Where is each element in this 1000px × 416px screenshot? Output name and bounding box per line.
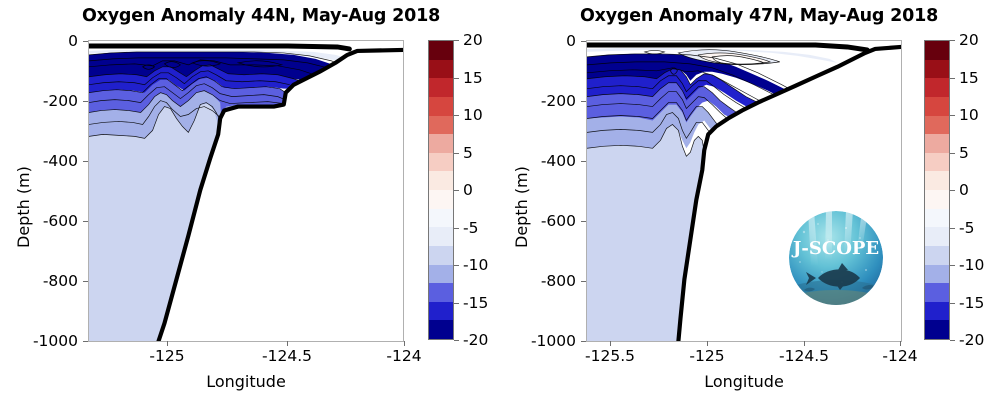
xtick-mark-47n-2 <box>804 341 805 346</box>
colorbar-band-8 <box>429 190 453 209</box>
yaxis-title-44n: Depth (m) <box>14 166 33 248</box>
colorbar-band-15 <box>429 320 453 339</box>
colorbar-band-3 <box>925 97 949 116</box>
ytick-label-44n-5: -1000 <box>18 332 78 350</box>
colorbar-tick-mark-7 <box>454 303 459 304</box>
xtick-label-47n-3: -124 <box>882 347 917 365</box>
colorbar-band-10 <box>925 227 949 246</box>
colorbar-band-4 <box>925 116 949 135</box>
colorbar-gradient-44n <box>429 41 453 339</box>
colorbar-band-11 <box>429 246 453 265</box>
colorbar-band-7 <box>429 171 453 190</box>
colorbar-band-13 <box>429 283 453 302</box>
colorbar-tick-mark-7 <box>950 303 955 304</box>
colorbar-band-8 <box>925 190 949 209</box>
xtick-label-44n-2: -124 <box>386 347 421 365</box>
colorbar-tick-label-3: 5 <box>959 144 969 162</box>
ytick-mark-44n-4 <box>83 281 88 282</box>
ytick-mark-47n-1 <box>581 101 586 102</box>
xtick-label-44n-0: -125 <box>149 347 184 365</box>
colorbar-tick-mark-6 <box>454 265 459 266</box>
colorbar-band-0 <box>925 41 949 60</box>
colorbar-band-12 <box>429 265 453 284</box>
jscope-logo-graphic: J-SCOPE <box>788 210 884 306</box>
colorbar-tick-mark-3 <box>454 153 459 154</box>
colorbar-tick-mark-5 <box>950 228 955 229</box>
colorbar-tick-label-4: 0 <box>463 181 473 199</box>
ytick-label-44n-0: 0 <box>18 32 78 50</box>
colorbar-band-5 <box>925 134 949 153</box>
panel-title-44n: Oxygen Anomaly 44N, May-Aug 2018 <box>0 6 500 26</box>
colorbar-tick-mark-8 <box>454 340 459 341</box>
xtick-label-47n-1: -125 <box>689 347 724 365</box>
jscope-logo-text: J-SCOPE <box>791 238 879 259</box>
colorbar-band-11 <box>925 246 949 265</box>
colorbar-band-2 <box>429 78 453 97</box>
colorbar-tick-mark-2 <box>454 115 459 116</box>
colorbar-band-5 <box>429 134 453 153</box>
colorbar-tick-mark-5 <box>454 228 459 229</box>
colorbar-band-15 <box>925 320 949 339</box>
ytick-mark-47n-5 <box>581 341 586 342</box>
ytick-label-44n-1: -200 <box>18 92 78 110</box>
colorbar-tick-label-6: -10 <box>959 256 984 274</box>
colorbar-ticks-44n: 20151050-5-10-15-20 <box>454 40 500 340</box>
colorbar-band-3 <box>429 97 453 116</box>
colorbar-tick-label-2: 10 <box>959 106 979 124</box>
jscope-logo: J-SCOPE <box>788 210 884 306</box>
colorbar-ticks-47n: 20151050-5-10-15-20 <box>950 40 996 340</box>
colorbar-band-1 <box>925 60 949 79</box>
yaxis-title-47n: Depth (m) <box>512 166 531 248</box>
ytick-mark-47n-0 <box>581 41 586 42</box>
colorbar-band-9 <box>429 209 453 228</box>
colorbar-band-1 <box>429 60 453 79</box>
colorbar-tick-mark-0 <box>950 40 955 41</box>
colorbar-band-9 <box>925 209 949 228</box>
colorbar-gradient-47n <box>925 41 949 339</box>
colorbar-tick-mark-4 <box>454 190 459 191</box>
ytick-mark-47n-2 <box>581 161 586 162</box>
plot-area-44n <box>88 40 404 342</box>
xtick-mark-47n-3 <box>900 341 901 346</box>
xtick-mark-44n-1 <box>287 341 288 346</box>
colorbar-band-2 <box>925 78 949 97</box>
colorbar-tick-label-7: -15 <box>959 294 984 312</box>
xtick-label-47n-0: -125.5 <box>585 347 635 365</box>
colorbar-tick-label-0: 20 <box>463 31 483 49</box>
xtick-mark-44n-0 <box>167 341 168 346</box>
colorbar-band-6 <box>925 153 949 172</box>
ytick-label-47n-4: -800 <box>516 272 576 290</box>
colorbar-band-4 <box>429 116 453 135</box>
colorbar-band-14 <box>925 302 949 321</box>
colorbar-tick-mark-1 <box>950 78 955 79</box>
colorbar-tick-mark-2 <box>950 115 955 116</box>
colorbar-band-14 <box>429 302 453 321</box>
colorbar-band-7 <box>925 171 949 190</box>
ytick-mark-47n-3 <box>581 221 586 222</box>
ytick-mark-44n-0 <box>83 41 88 42</box>
xtick-mark-47n-0 <box>610 341 611 346</box>
ytick-mark-44n-5 <box>83 341 88 342</box>
ytick-mark-44n-3 <box>83 221 88 222</box>
ytick-label-44n-4: -800 <box>18 272 78 290</box>
colorbar-tick-label-3: 5 <box>463 144 473 162</box>
colorbar-tick-label-2: 10 <box>463 106 483 124</box>
colorbar-tick-label-5: -5 <box>463 219 478 237</box>
xaxis-title-44n: Longitude <box>206 372 286 391</box>
colorbar-tick-label-6: -10 <box>463 256 488 274</box>
colorbar-tick-label-1: 15 <box>463 69 483 87</box>
colorbar-tick-mark-4 <box>950 190 955 191</box>
ytick-mark-44n-1 <box>83 101 88 102</box>
colorbar-band-12 <box>925 265 949 284</box>
colorbar-band-13 <box>925 283 949 302</box>
colorbar-band-0 <box>429 41 453 60</box>
colorbar-tick-mark-1 <box>454 78 459 79</box>
ytick-mark-47n-4 <box>581 281 586 282</box>
ytick-label-47n-0: 0 <box>516 32 576 50</box>
colorbar-tick-label-1: 15 <box>959 69 979 87</box>
ytick-label-47n-1: -200 <box>516 92 576 110</box>
panel-47n: Oxygen Anomaly 47N, May-Aug 2018 <box>500 0 1000 416</box>
figure-root: Oxygen Anomaly 44N, May-Aug 2018 <box>0 0 1000 416</box>
xaxis-title-47n: Longitude <box>704 372 784 391</box>
colorbar-tick-label-5: -5 <box>959 219 974 237</box>
colorbar-tick-mark-3 <box>950 153 955 154</box>
colorbar-44n <box>428 40 454 340</box>
colorbar-tick-mark-0 <box>454 40 459 41</box>
colorbar-tick-mark-8 <box>950 340 955 341</box>
colorbar-47n <box>924 40 950 340</box>
colorbar-tick-label-4: 0 <box>959 181 969 199</box>
xtick-label-44n-1: -124.5 <box>262 347 312 365</box>
xtick-label-47n-2: -124.5 <box>779 347 829 365</box>
colorbar-tick-label-7: -15 <box>463 294 488 312</box>
ytick-mark-44n-2 <box>83 161 88 162</box>
colorbar-band-6 <box>429 153 453 172</box>
colorbar-tick-label-8: -20 <box>959 331 984 349</box>
colorbar-tick-label-0: 20 <box>959 31 979 49</box>
contour-plot-44n <box>89 41 403 341</box>
xtick-mark-47n-1 <box>707 341 708 346</box>
ytick-label-47n-5: -1000 <box>516 332 576 350</box>
panel-title-47n: Oxygen Anomaly 47N, May-Aug 2018 <box>500 6 1000 26</box>
colorbar-band-10 <box>429 227 453 246</box>
colorbar-tick-mark-6 <box>950 265 955 266</box>
xtick-mark-44n-2 <box>404 341 405 346</box>
panel-44n: Oxygen Anomaly 44N, May-Aug 2018 <box>0 0 500 416</box>
colorbar-tick-label-8: -20 <box>463 331 488 349</box>
